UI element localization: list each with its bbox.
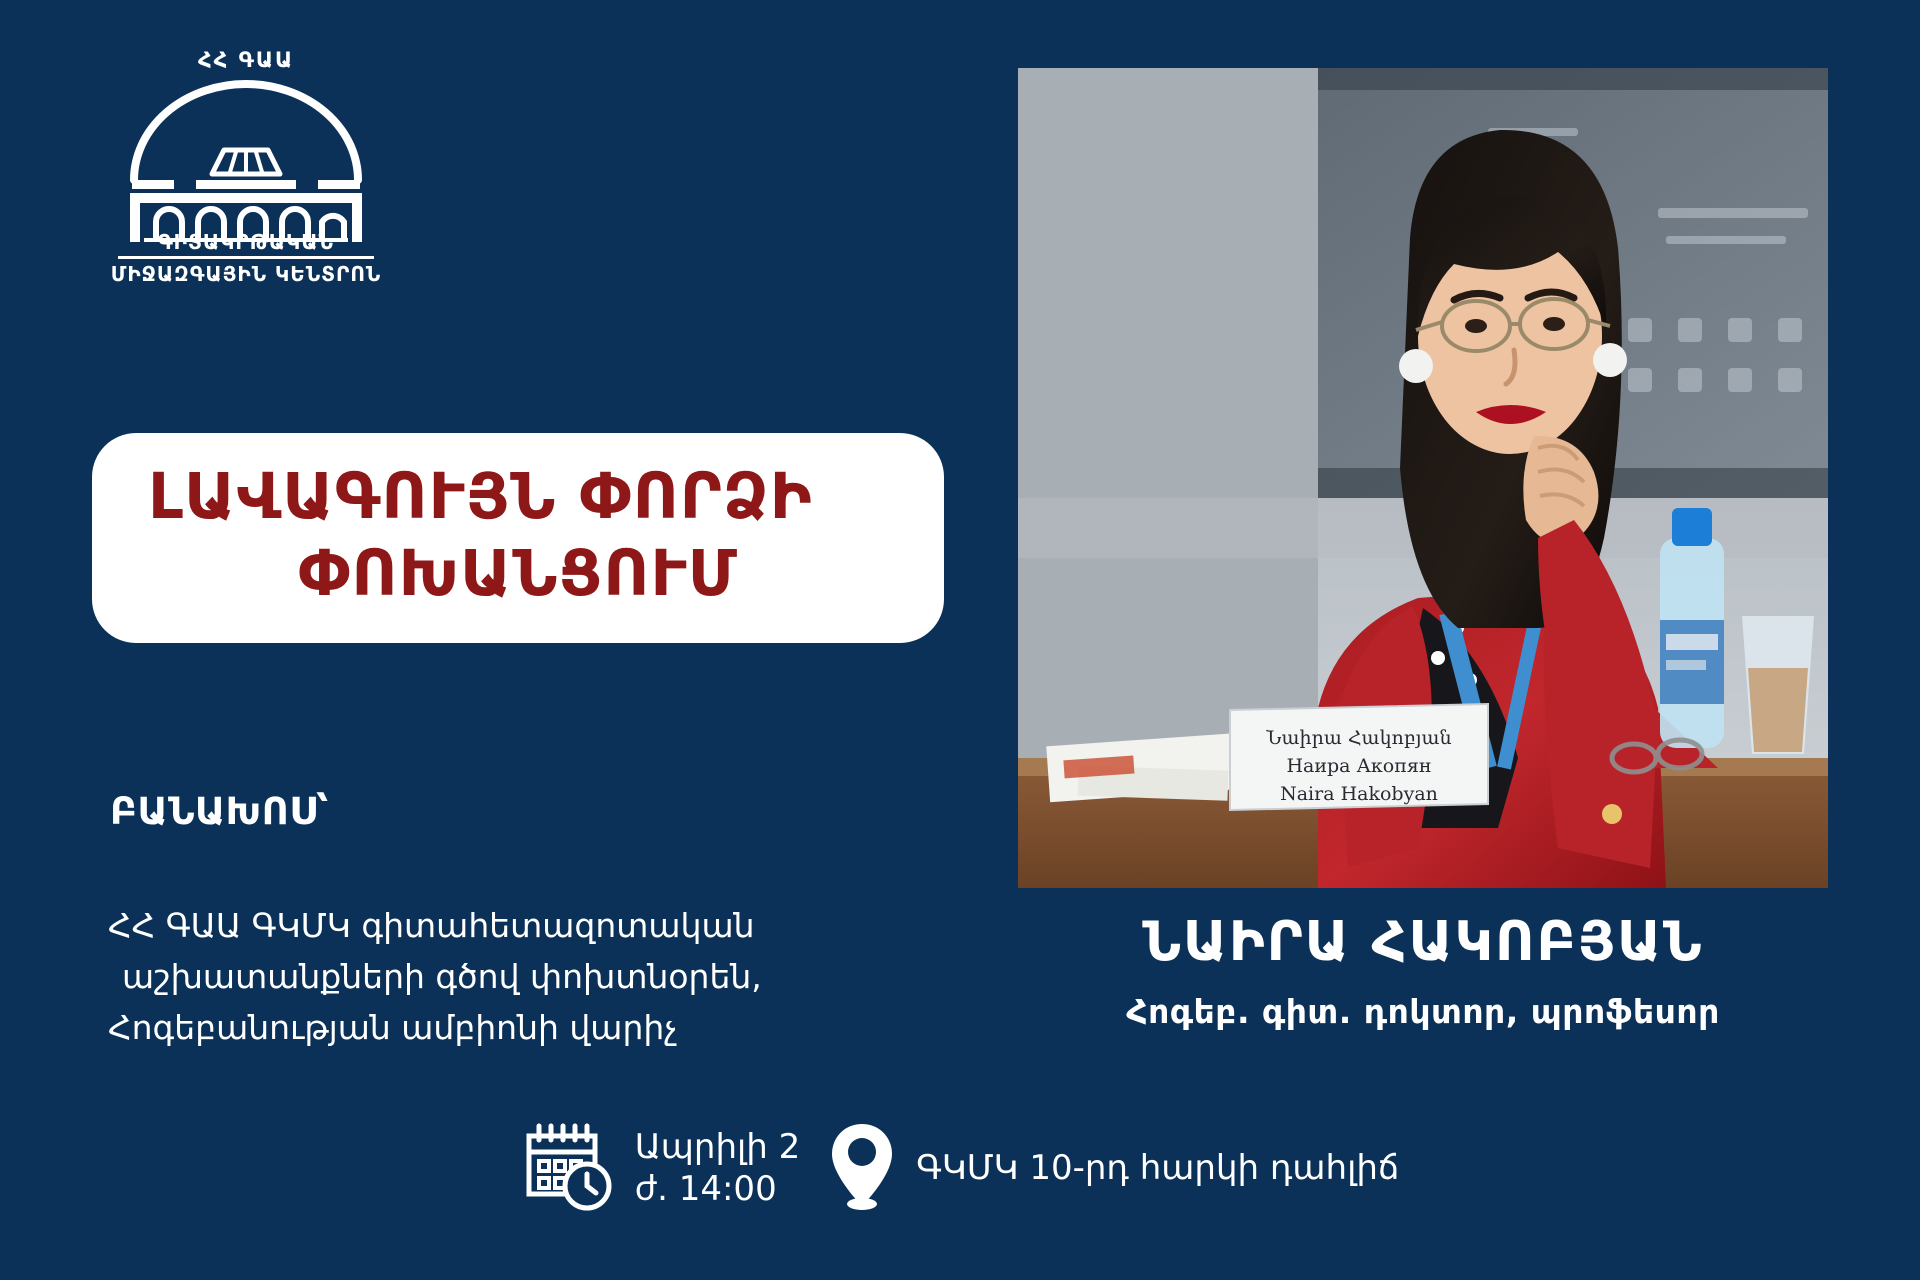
event-location: ԳԿՄԿ 10-րդ հարկի դահլիճ: [826, 1118, 1399, 1218]
logo-divider: [118, 256, 374, 259]
event-location-text: ԳԿՄԿ 10-րդ հարկի դահլիճ: [916, 1148, 1399, 1188]
speaker-label: ԲԱՆԱԽՈՍ՝: [110, 790, 329, 833]
svg-text:Նաիրա Հակոբյան: Նաիրա Հակոբյան: [1265, 727, 1451, 749]
speaker-description-line-3: Հոգեբանության ամբիոնի վարիչ: [108, 1002, 898, 1053]
speaker-description-line-2: աշխատանքների գծով փոխտնօրեն,: [108, 951, 898, 1002]
map-pin-icon: [826, 1118, 898, 1218]
event-details-footer: Ապրիլի 2 ժ. 14:00 ԳԿՄԿ 10-րդ հարկի դահլի…: [0, 1118, 1920, 1218]
svg-text:Наира Акопян: Наира Акопян: [1286, 755, 1431, 777]
poster-title-banner: ԼԱՎԱԳՈՒՅՆ ՓՈՐՁԻ ՓՈԽԱՆՑՈՒՄ: [92, 433, 944, 643]
logo-name-line-1: ԳԻՏԱԿՐԹԱԿԱՆ: [96, 230, 396, 254]
speaker-degree: Հոգեբ. գիտ. դոկտոր, պրոֆեսոր: [1018, 992, 1828, 1031]
speaker-description: ՀՀ ԳԱԱ ԳԿՄԿ գիտահետազոտական աշխատանքների…: [108, 900, 898, 1053]
poster-title-line-1: ԼԱՎԱԳՈՒՅՆ ՓՈՐՁԻ: [126, 459, 910, 536]
event-datetime-text: Ապրիլի 2 ժ. 14:00: [635, 1126, 800, 1211]
event-datetime: Ապրիլի 2 ժ. 14:00: [521, 1118, 800, 1218]
event-date: Ապրիլի 2: [635, 1126, 800, 1169]
speaker-photo: Նաիրա Հակոբյան Наира Акопян Naira Hakoby…: [1018, 68, 1828, 888]
organization-logo: ՀՀ ԳԱԱ: [96, 48, 396, 308]
calendar-clock-icon: [521, 1118, 617, 1218]
speaker-name: ՆԱԻՐԱ ՀԱԿՈԲՅԱՆ: [1018, 910, 1828, 973]
svg-text:Naira Hakobyan: Naira Hakobyan: [1280, 783, 1438, 805]
event-poster: ՀՀ ԳԱԱ: [0, 0, 1920, 1280]
speaker-description-line-1: ՀՀ ԳԱԱ ԳԿՄԿ գիտահետազոտական: [108, 900, 898, 951]
logo-name-line-2: ՄԻՋԱԶԳԱՅԻՆ ԿԵՆՏՐՈՆ: [96, 262, 396, 286]
poster-title-line-2: ՓՈԽԱՆՑՈՒՄ: [126, 536, 910, 613]
event-time: ժ. 14:00: [635, 1168, 800, 1211]
